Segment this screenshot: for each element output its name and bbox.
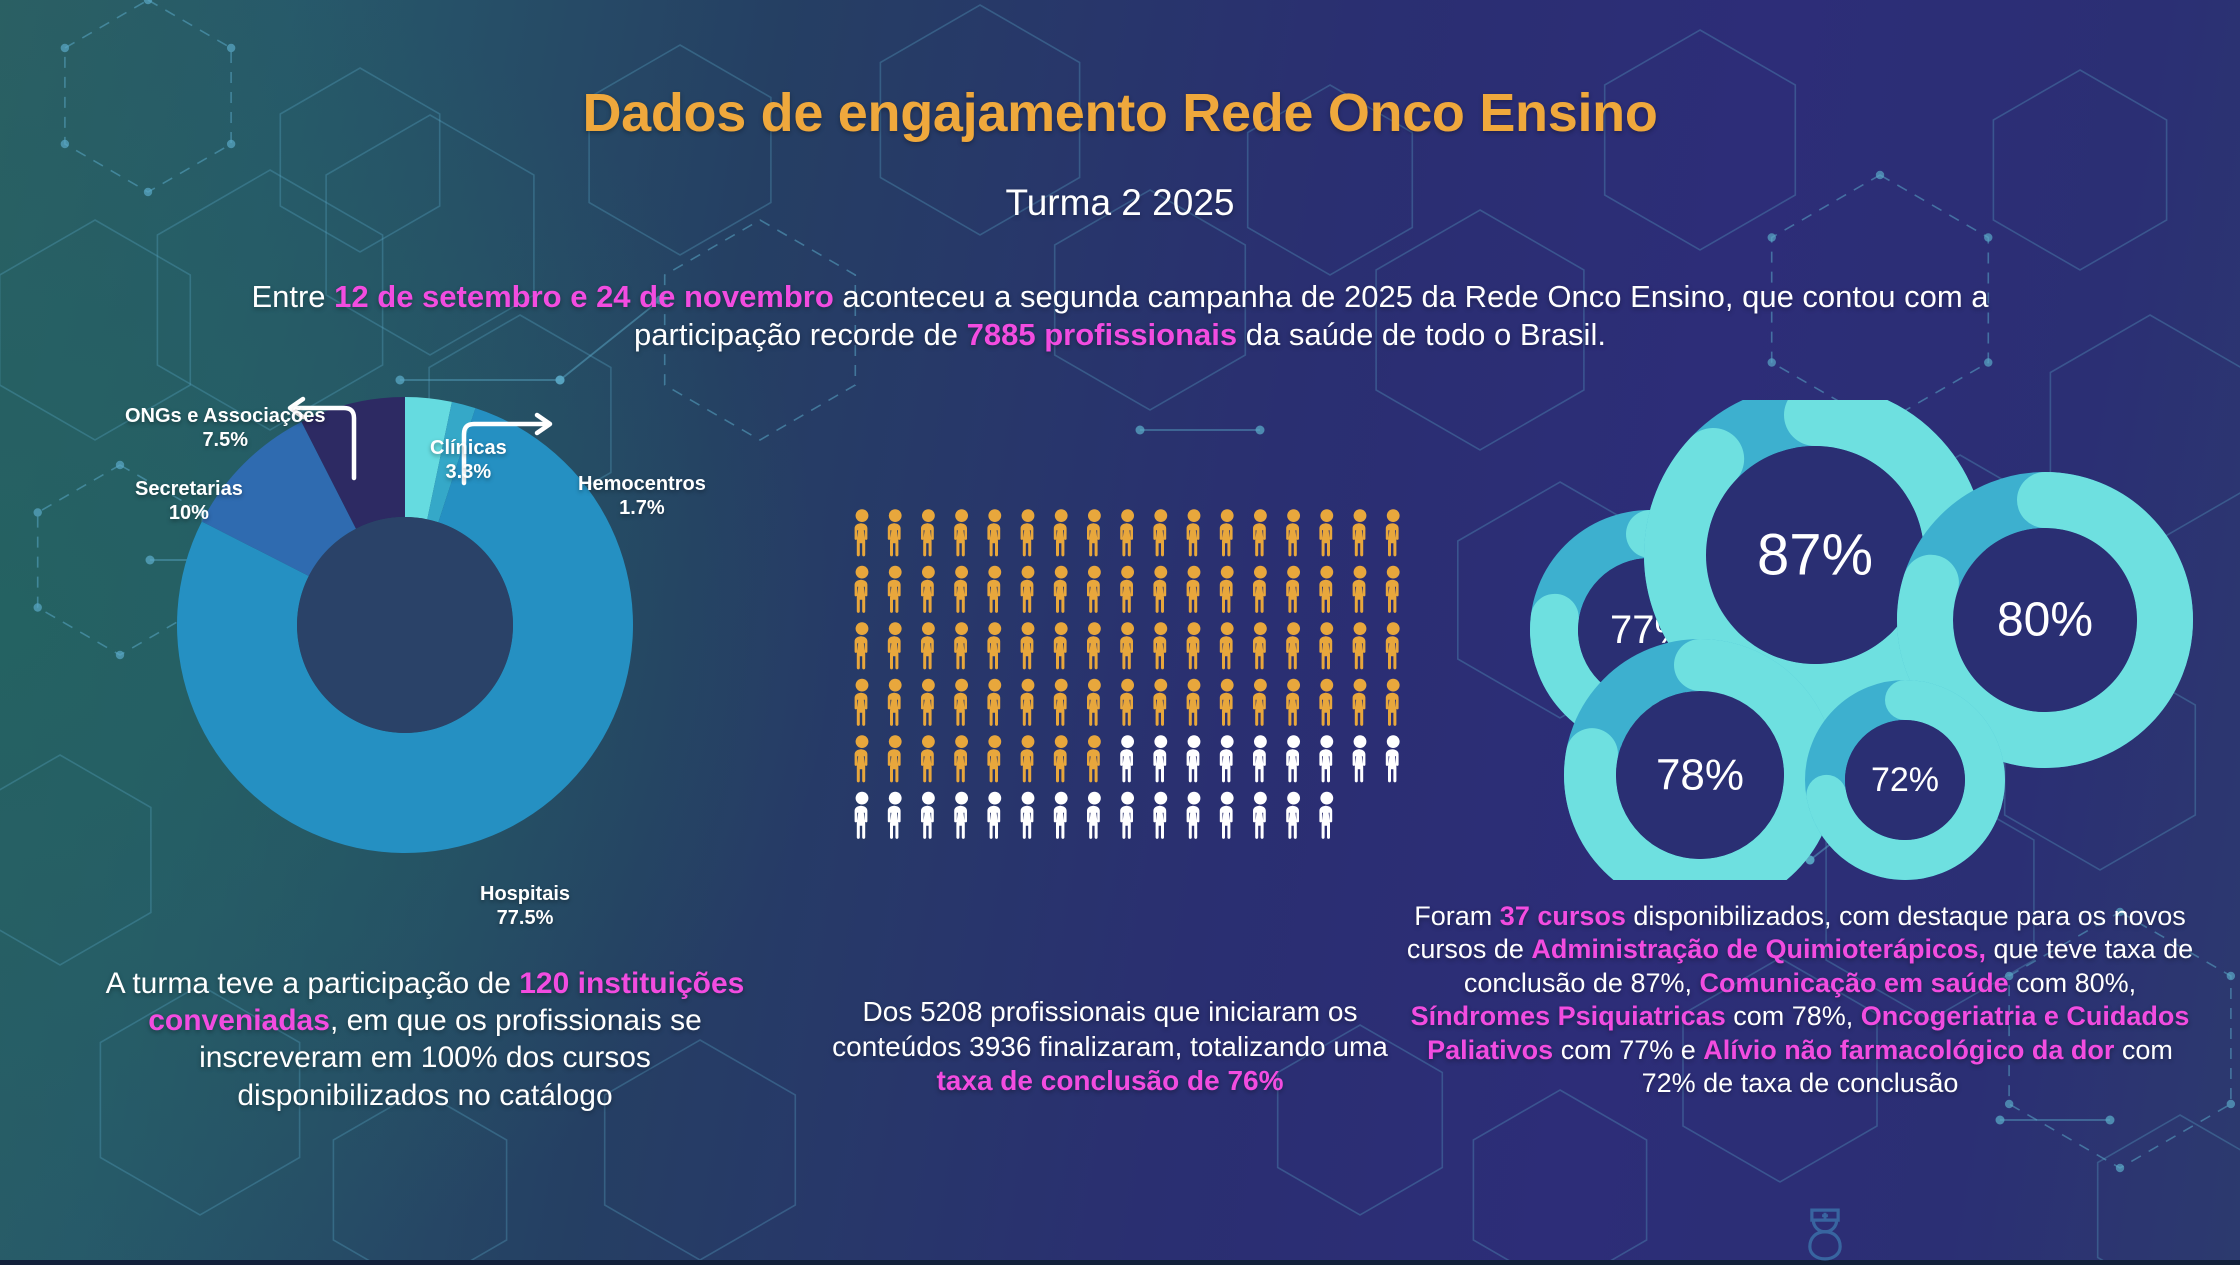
donut-svg <box>175 395 635 855</box>
person-icon <box>1054 735 1068 782</box>
intro-highlight-professionals: 7885 profissionais <box>967 317 1238 352</box>
person-icon <box>1319 509 1333 556</box>
pie-label-hospitais-name: Hospitais <box>480 883 570 907</box>
person-icon <box>921 735 935 782</box>
progress-ring-72: 72% <box>1825 700 1985 860</box>
person-icon <box>1120 792 1134 839</box>
person-icon <box>1353 735 1367 782</box>
cap-right-hl4: Síndromes Psiquiatricas <box>1411 1001 1726 1031</box>
cap-right-t4: com 80%, <box>2009 968 2137 998</box>
pie-label-ongs: ONGs e Associações 7.5% <box>125 405 325 452</box>
cap-right-t1: Foram <box>1414 901 1500 931</box>
person-icon <box>1120 566 1134 613</box>
person-icon <box>888 509 902 556</box>
pie-label-clinicas-name: Clínicas <box>430 437 507 461</box>
person-icon <box>1187 566 1201 613</box>
person-icon <box>1087 566 1101 613</box>
person-icon <box>921 622 935 669</box>
person-icon <box>1021 509 1035 556</box>
ring-value-label: 80% <box>1997 594 2093 647</box>
person-icon <box>1021 622 1035 669</box>
person-icon <box>921 509 935 556</box>
person-icon <box>954 509 968 556</box>
person-icon <box>1087 792 1101 839</box>
pie-label-ongs-name: ONGs e Associações <box>125 405 325 429</box>
person-icon <box>1286 566 1300 613</box>
person-icon <box>1319 735 1333 782</box>
pie-label-clinicas: Clínicas 3.3% <box>430 437 507 484</box>
institutions-donut-chart <box>175 395 635 855</box>
person-icon <box>1220 792 1234 839</box>
person-icon <box>1187 622 1201 669</box>
person-icon <box>888 566 902 613</box>
person-icon <box>954 622 968 669</box>
person-icon <box>1319 566 1333 613</box>
person-icon <box>987 622 1001 669</box>
person-icon <box>1353 509 1367 556</box>
person-icon <box>855 735 869 782</box>
cap-right-hl2: Administração de Quimioterápicos, <box>1531 934 1986 964</box>
person-icon <box>1054 509 1068 556</box>
person-icon <box>987 792 1001 839</box>
person-icon <box>1087 622 1101 669</box>
person-icon <box>921 679 935 726</box>
person-icon <box>1253 679 1267 726</box>
progress-ring-78: 78% <box>1590 665 1810 880</box>
donut-hole <box>297 517 513 733</box>
person-icon <box>1253 622 1267 669</box>
caption-institutions: A turma teve a participação de 120 insti… <box>95 965 755 1114</box>
person-icon <box>1153 566 1167 613</box>
person-icon <box>855 566 869 613</box>
person-icon <box>1253 509 1267 556</box>
person-icon <box>1187 792 1201 839</box>
person-icon <box>1253 792 1267 839</box>
person-icon <box>1054 792 1068 839</box>
cap-left-t1: A turma teve a participação de <box>106 967 520 1000</box>
person-icon <box>1220 509 1234 556</box>
cap-right-hl3: Comunicação em saúde <box>1700 968 2009 998</box>
pie-label-hospitais-value: 77.5% <box>480 907 570 931</box>
person-icon <box>1054 679 1068 726</box>
person-icon <box>1187 735 1201 782</box>
person-icon <box>1286 679 1300 726</box>
person-icon <box>1021 566 1035 613</box>
person-icon <box>1220 622 1234 669</box>
pie-label-secretarias-value: 10% <box>135 502 243 526</box>
person-icon <box>1120 622 1134 669</box>
cap-mid-t1: Dos 5208 profissionais que iniciaram os … <box>832 996 1388 1062</box>
person-icon <box>1220 566 1234 613</box>
person-icon <box>1286 792 1300 839</box>
person-icon <box>1286 622 1300 669</box>
ring-value-label: 78% <box>1656 751 1744 800</box>
intro-highlight-dates: 12 de setembro e 24 de novembro <box>334 279 834 314</box>
rings-svg: 77%87%80%78%72% <box>1455 400 2215 880</box>
pie-label-hospitais: Hospitais 77.5% <box>480 883 570 930</box>
person-icon <box>954 735 968 782</box>
person-icon <box>1187 509 1201 556</box>
person-icon <box>1153 735 1167 782</box>
person-icon <box>1120 679 1134 726</box>
person-icon <box>1386 566 1400 613</box>
person-icon <box>1087 735 1101 782</box>
pictogram-svg <box>845 505 1405 855</box>
page-subtitle: Turma 2 2025 <box>0 182 2240 224</box>
person-icon <box>855 679 869 726</box>
person-icon <box>1286 509 1300 556</box>
pie-label-hemocentros-name: Hemocentros <box>578 473 706 497</box>
course-completion-rings-chart: 77%87%80%78%72% <box>1455 400 2215 880</box>
person-icon <box>987 509 1001 556</box>
person-icon <box>1153 792 1167 839</box>
person-icon <box>954 566 968 613</box>
pie-label-secretarias: Secretarias 10% <box>135 478 243 525</box>
person-icon <box>921 792 935 839</box>
intro-text-1: Entre <box>251 279 334 314</box>
person-icon <box>1187 679 1201 726</box>
person-icon <box>1087 679 1101 726</box>
person-icon <box>1353 566 1367 613</box>
person-icon <box>888 792 902 839</box>
cap-mid-hl1: taxa de conclusão de 76% <box>936 1065 1283 1096</box>
page-title: Dados de engajamento Rede Onco Ensino <box>0 82 2240 144</box>
person-icon <box>954 792 968 839</box>
person-icon <box>1021 679 1035 726</box>
person-icon <box>1386 509 1400 556</box>
person-icon <box>1253 566 1267 613</box>
person-icon <box>1120 735 1134 782</box>
person-icon <box>1120 509 1134 556</box>
ring-value-label: 87% <box>1757 523 1873 588</box>
person-icon <box>1153 622 1167 669</box>
person-icon <box>1286 735 1300 782</box>
person-icon <box>888 735 902 782</box>
person-icon <box>1087 509 1101 556</box>
person-icon <box>987 735 1001 782</box>
person-icon <box>1021 792 1035 839</box>
ring-value-label: 72% <box>1871 761 1939 799</box>
person-icon <box>1153 509 1167 556</box>
person-icon <box>1253 735 1267 782</box>
person-icon <box>855 509 869 556</box>
person-icon <box>888 679 902 726</box>
pie-label-secretarias-name: Secretarias <box>135 478 243 502</box>
person-icon <box>1220 679 1234 726</box>
person-icon <box>1153 679 1167 726</box>
person-icon <box>855 622 869 669</box>
infographic-canvas: Dados de engajamento Rede Onco Ensino Tu… <box>0 0 2240 1260</box>
person-icon <box>1386 735 1400 782</box>
person-icon <box>987 566 1001 613</box>
person-icon <box>954 679 968 726</box>
person-icon <box>1386 679 1400 726</box>
pie-label-hemocentros-value: 1.7% <box>578 497 706 521</box>
cap-right-hl1: 37 cursos <box>1500 901 1626 931</box>
person-icon <box>855 792 869 839</box>
person-icon <box>1386 622 1400 669</box>
pie-label-ongs-value: 7.5% <box>125 429 325 453</box>
caption-completion-rate: Dos 5208 profissionais que iniciaram os … <box>810 995 1410 1099</box>
cap-right-hl6: Alívio não farmacológico da dor <box>1703 1035 2114 1065</box>
person-icon <box>1054 566 1068 613</box>
person-icon <box>987 679 1001 726</box>
person-icon <box>1220 735 1234 782</box>
pie-label-hemocentros: Hemocentros 1.7% <box>578 473 706 520</box>
person-icon <box>1353 622 1367 669</box>
completion-pictogram-chart <box>845 505 1405 855</box>
cap-right-t5: com 78%, <box>1726 1001 1861 1031</box>
person-icon <box>1054 622 1068 669</box>
person-icon <box>1319 679 1333 726</box>
person-icon <box>888 622 902 669</box>
person-icon <box>1353 679 1367 726</box>
intro-paragraph: Entre 12 de setembro e 24 de novembro ac… <box>240 278 2000 355</box>
caption-courses: Foram 37 cursos disponibilizados, com de… <box>1400 900 2200 1101</box>
person-icon <box>1319 792 1333 839</box>
nurse-icon <box>1790 1195 1860 1265</box>
cap-right-t6: com 77% e <box>1553 1035 1703 1065</box>
intro-text-3: da saúde de todo o Brasil. <box>1237 317 1606 352</box>
person-icon <box>1021 735 1035 782</box>
pie-label-clinicas-value: 3.3% <box>430 461 507 485</box>
person-icon <box>1319 622 1333 669</box>
person-icon <box>921 566 935 613</box>
